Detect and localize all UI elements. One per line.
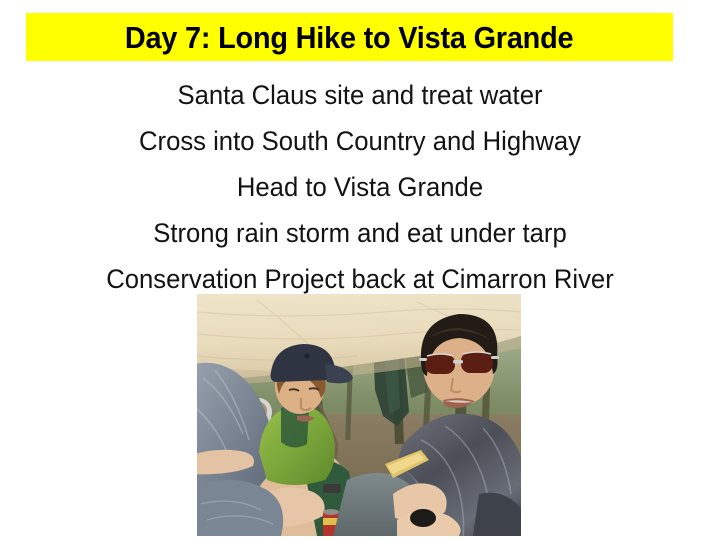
slide: Day 7: Long Hike to Vista Grande Santa C… [0, 0, 720, 540]
slide-body-text: Santa Claus site and treat water Cross i… [0, 72, 720, 302]
body-line-2: Cross into South Country and Highway [18, 118, 702, 164]
body-line-3: Head to Vista Grande [18, 164, 702, 210]
campers-eating-under-tarp-photo [197, 294, 521, 536]
page-title: Day 7: Long Hike to Vista Grande [125, 22, 574, 53]
slide-title-banner: Day 7: Long Hike to Vista Grande [26, 13, 673, 61]
body-line-1: Santa Claus site and treat water [18, 72, 702, 118]
body-line-4: Strong rain storm and eat under tarp [18, 210, 702, 256]
